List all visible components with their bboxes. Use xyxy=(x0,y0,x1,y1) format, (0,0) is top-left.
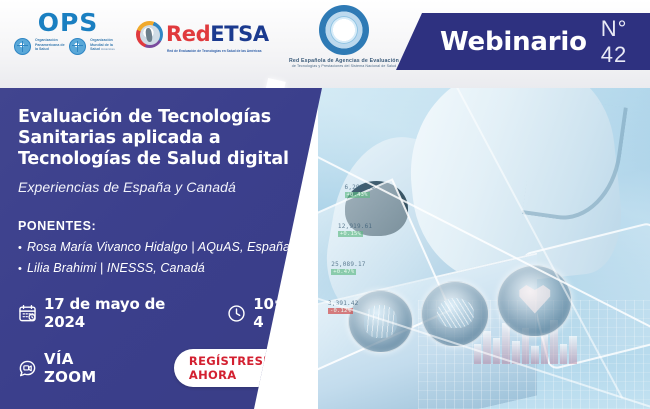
logo-redetsa: RedETSA Red de Evaluación de Tecnologías… xyxy=(136,21,262,53)
event-meta-row: 17 de mayo de 2024 10:00 UTC-4 xyxy=(18,295,348,331)
logo-red-espanola: Red Española de Agencias de Evaluación d… xyxy=(278,5,410,68)
ribbon-number: N° 42 xyxy=(601,16,650,68)
redetsa-red-text: Red xyxy=(166,22,210,46)
redetsa-etsa-text: ETSA xyxy=(210,22,268,46)
photo-ticker: 6,290.30+0.43% xyxy=(345,184,376,198)
hero-photo: 6,290.30+0.43% 12,919.61+0.15% 25,089.17… xyxy=(318,88,650,409)
speaker-name: Rosa María Vivanco Hidalgo | AQuAS, Espa… xyxy=(27,240,290,254)
event-date-text: 17 de mayo de 2024 xyxy=(44,295,201,331)
paho-globe-icon xyxy=(14,38,31,55)
photo-heart-icon xyxy=(497,265,572,338)
red-espanola-circle-icon xyxy=(319,5,369,55)
page-title: Evaluación de Tecnologías Sanitarias apl… xyxy=(18,107,318,170)
logo-group: OPS Organización Panamericana de la Salu… xyxy=(0,0,420,92)
event-date: 17 de mayo de 2024 xyxy=(18,295,201,331)
bullet-icon: • xyxy=(18,243,22,254)
platform-zoom: VÍA ZOOM xyxy=(18,350,126,386)
redetsa-globe-icon xyxy=(136,21,163,48)
red-espanola-line2: de Tecnologías y Prestaciones del Sistem… xyxy=(278,64,410,68)
ops-panamerican-label: Organización Panamericana de la Salud xyxy=(35,38,65,52)
platform-label: VÍA ZOOM xyxy=(44,350,126,386)
register-button-label: REGÍSTRESE AHORA xyxy=(189,354,315,382)
video-chat-icon xyxy=(18,359,37,378)
calendar-icon xyxy=(18,304,37,323)
webinar-ribbon: Webinario N° 42 xyxy=(396,13,650,70)
clock-icon xyxy=(227,304,246,323)
photo-ticker: 25,089.17+0.47% xyxy=(331,261,365,275)
speaker-name: Lilia Brahimi | INESSS, Canadá xyxy=(27,261,205,275)
webinar-poster: OPS Organización Panamericana de la Salu… xyxy=(0,0,650,409)
logo-ops: OPS Organización Panamericana de la Salu… xyxy=(14,10,122,55)
list-item: • Rosa María Vivanco Hidalgo | AQuAS, Es… xyxy=(18,240,348,254)
footer-row: VÍA ZOOM REGÍSTRESE AHORA xyxy=(18,349,348,387)
photo-ticker: 12,919.61+0.15% xyxy=(338,223,372,237)
redetsa-tagline: Red de Evaluación de Tecnologías en Salu… xyxy=(167,49,262,53)
list-item: • Lilia Brahimi | INESSS, Canadá xyxy=(18,261,348,275)
ops-americas-label: Américas xyxy=(101,47,115,51)
ops-acronym: OPS xyxy=(14,10,122,35)
speakers-heading: PONENTES: xyxy=(18,219,348,233)
ribbon-title: Webinario xyxy=(440,27,587,57)
bullet-icon: • xyxy=(18,264,22,275)
who-globe-icon xyxy=(69,38,86,55)
page-subtitle: Experiencias de España y Canadá xyxy=(18,179,348,195)
